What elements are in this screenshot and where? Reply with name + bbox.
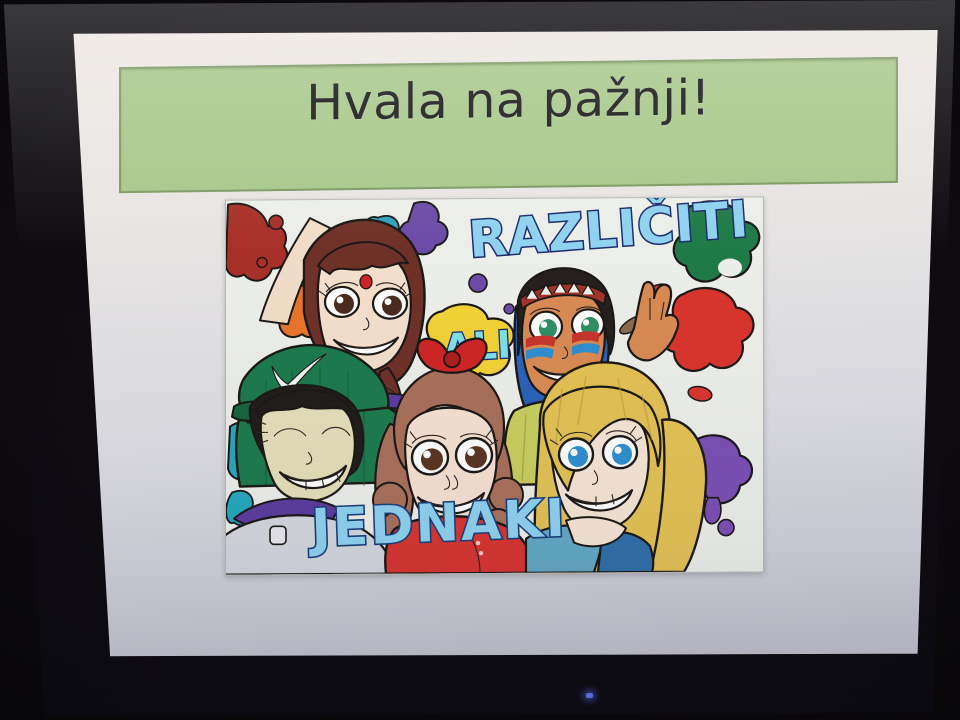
photo-scene: Hvala na pažnji! .ol{stroke:#1a1714;stro… bbox=[0, 0, 960, 720]
word-jednaki: JEDNAKI bbox=[307, 489, 567, 560]
slide-wrapper: Hvala na pažnji! .ol{stroke:#1a1714;stro… bbox=[0, 0, 960, 720]
presentation-slide: Hvala na pažnji! .ol{stroke:#1a1714;stro… bbox=[70, 30, 942, 660]
page-title: Hvala na pažnji! bbox=[306, 69, 711, 131]
artwork-svg: .ol{stroke:#1a1714;stroke-linejoin:round… bbox=[226, 197, 763, 574]
artwork-image: .ol{stroke:#1a1714;stroke-linejoin:round… bbox=[225, 196, 764, 575]
title-banner-text-area: Hvala na pažnji! bbox=[119, 57, 898, 193]
monitor-power-led bbox=[586, 693, 593, 698]
svg-text:JEDNAKI: JEDNAKI bbox=[307, 489, 567, 560]
